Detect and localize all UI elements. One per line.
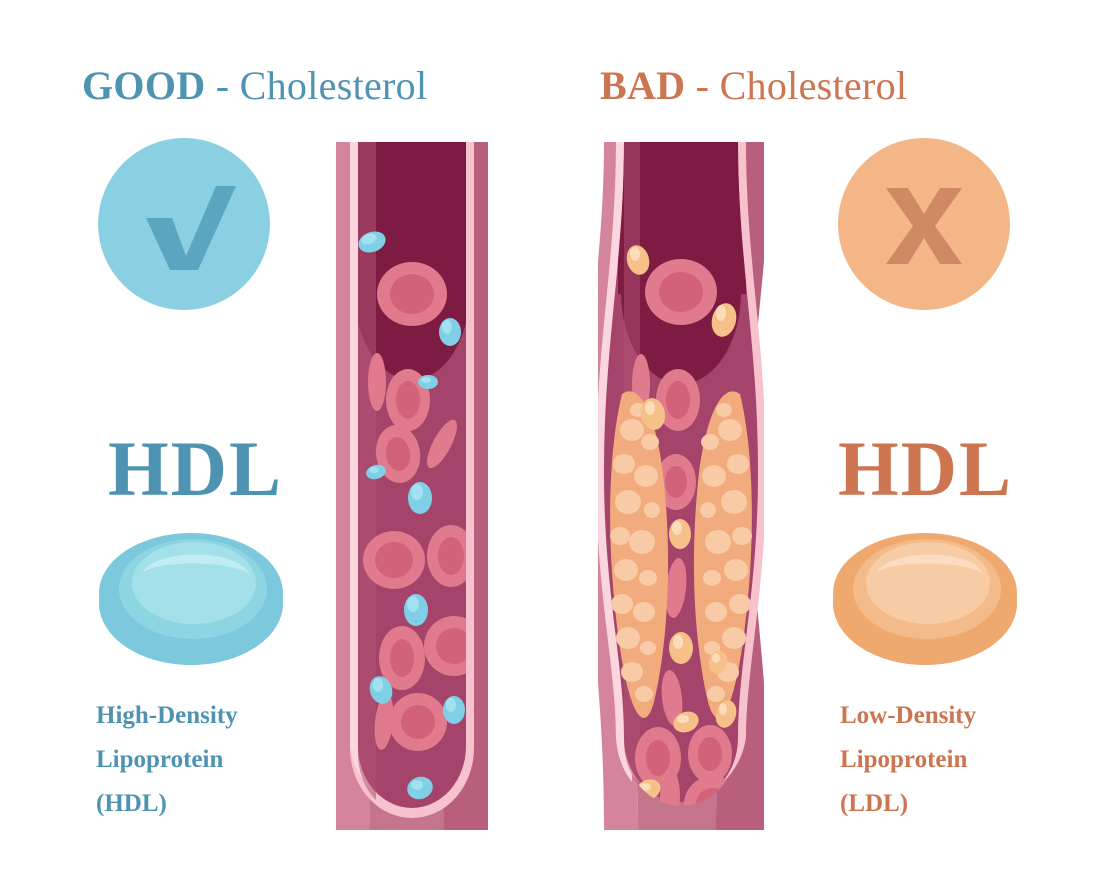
bad-heading-strong: BAD [600,63,685,108]
cross-icon [838,138,1010,310]
check-icon [98,138,270,310]
clogged-vessel-illustration [598,142,764,830]
healthy-vessel-illustration [336,142,488,830]
hdl-particle-icon [98,527,284,673]
bad-heading-rest: - Cholesterol [685,63,907,108]
good-heading-rest: - Cholesterol [205,63,427,108]
hdl-wordmark-left: HDL [108,424,283,514]
bad-cross-badge [838,138,1010,310]
ldl-particle-icon [832,527,1018,673]
hdl-lipoprotein-particle [98,527,284,673]
healthy-blood-vessel [336,142,488,830]
infographic-canvas: GOOD - Cholesterol BAD - Cholesterol HDL… [0,0,1100,875]
good-check-badge [98,138,270,310]
hdl-wordmark-right: HDL [838,424,1013,514]
ldl-lipoprotein-particle [832,527,1018,673]
good-heading-strong: GOOD [82,63,205,108]
hdl-caption: High-Density Lipoprotein (HDL) [96,694,238,826]
bad-cholesterol-heading: BAD - Cholesterol [600,62,907,109]
good-cholesterol-heading: GOOD - Cholesterol [82,62,427,109]
ldl-caption: Low-Density Lipoprotein (LDL) [840,694,976,826]
clogged-blood-vessel [598,142,764,830]
